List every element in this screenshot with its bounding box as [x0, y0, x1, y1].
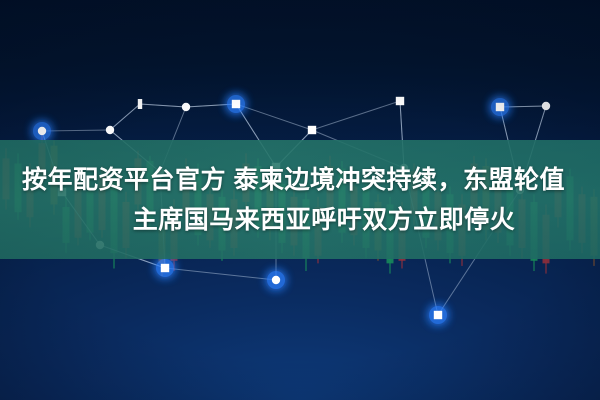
headline-line-2: 主席国马来西亚呼吁双方立即停火	[85, 202, 516, 238]
news-thumbnail-image: 按年配资平台官方 泰柬边境冲突持续，东盟轮值 主席国马来西亚呼吁双方立即停火	[0, 0, 600, 400]
headline-line-1: 按年配资平台官方 泰柬边境冲突持续，东盟轮值	[14, 162, 565, 198]
headline-block: 按年配资平台官方 泰柬边境冲突持续，东盟轮值 主席国马来西亚呼吁双方立即停火	[0, 140, 600, 259]
